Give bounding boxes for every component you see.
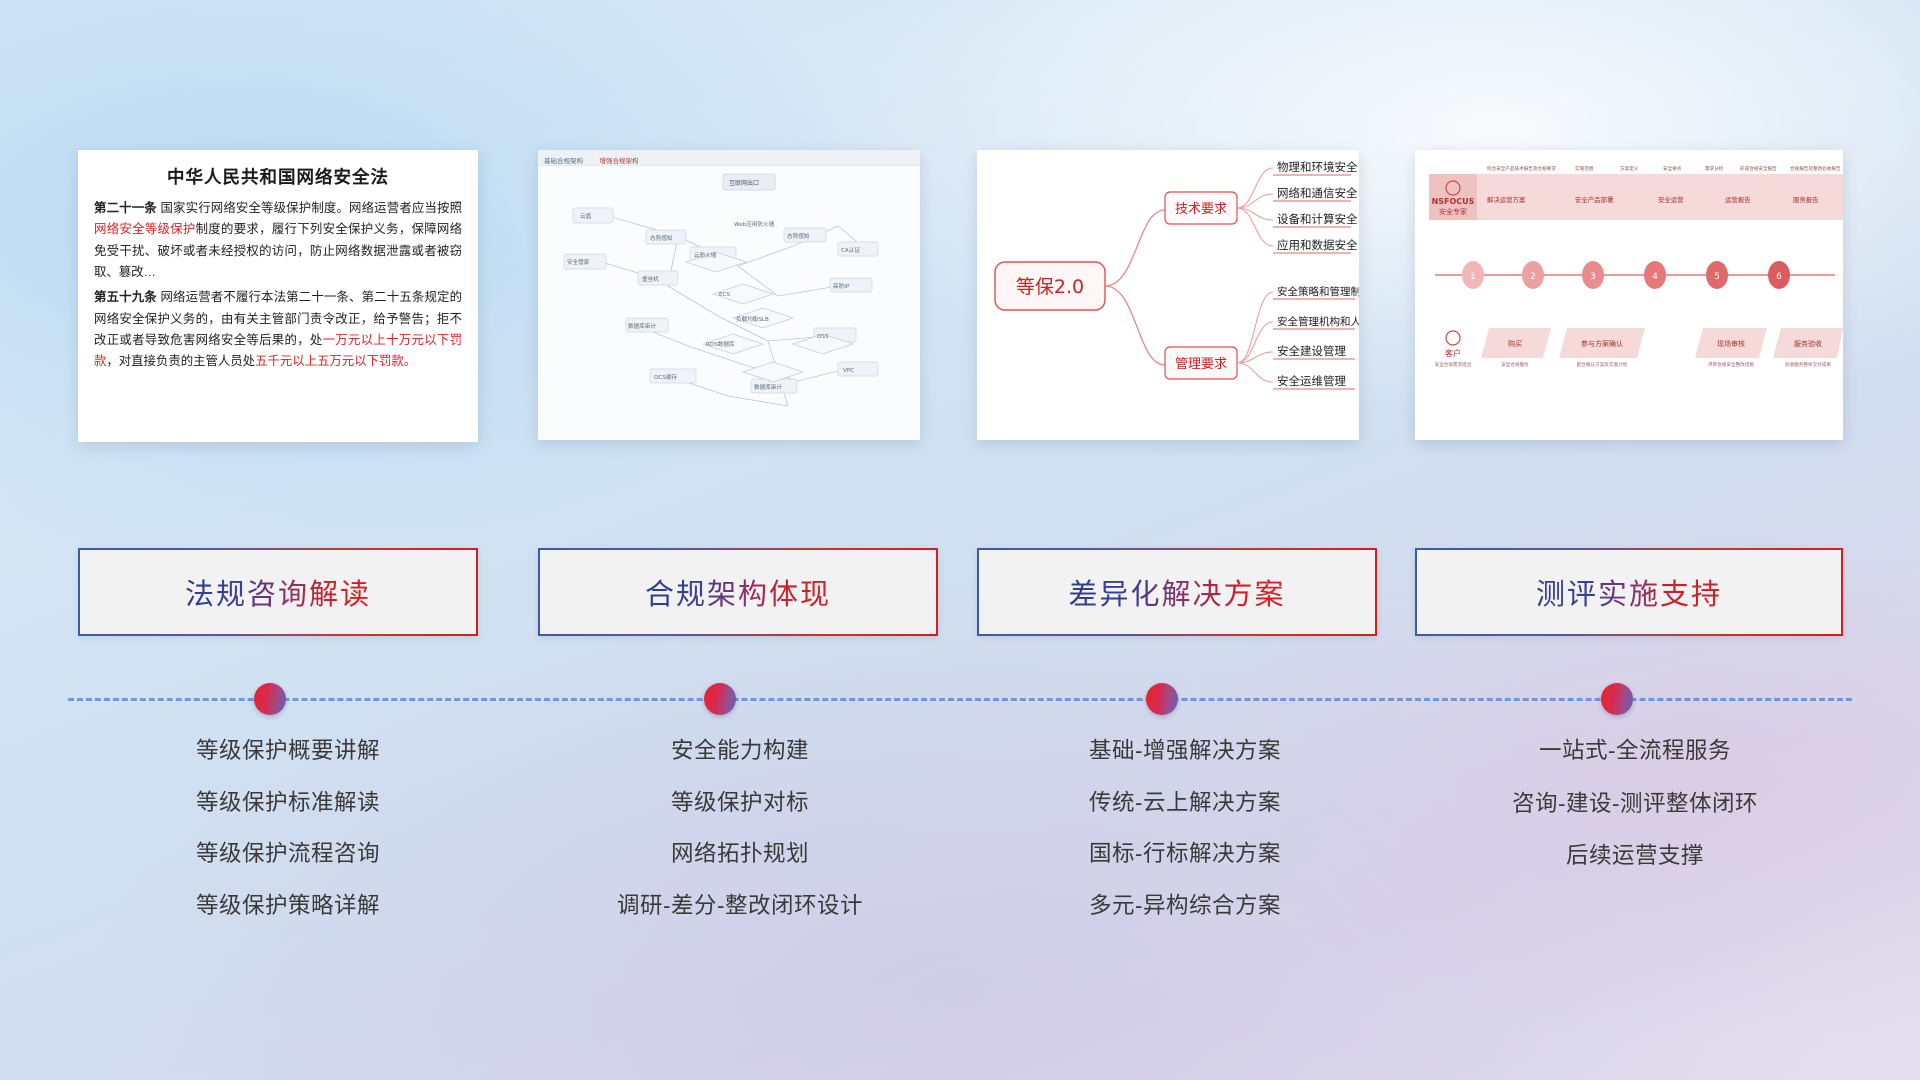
svg-text:客户: 客户 [1445, 348, 1461, 358]
article-21-highlight: 网络安全等级保护 [94, 222, 196, 236]
svg-text:安全合规服务: 安全合规服务 [1501, 361, 1529, 368]
svg-text:2: 2 [1530, 272, 1536, 282]
svg-text:参与方案确认: 参与方案确认 [1581, 339, 1623, 348]
svg-text:网络和通信安全: 网络和通信安全 [1277, 186, 1358, 200]
svg-text:安全运营: 安全运营 [1658, 195, 1684, 204]
label-box-solution[interactable]: 差异化解决方案 [977, 548, 1377, 636]
svg-text:综合安全产品技术报告及合规要求: 综合安全产品技术报告及合规要求 [1487, 165, 1556, 172]
svg-text:安全建设管理: 安全建设管理 [1277, 344, 1346, 358]
svg-text:技术要求: 技术要求 [1175, 202, 1227, 217]
timeline-dot-3[interactable] [1146, 683, 1178, 715]
nsfocus-diagram: NSFOCUS 安全专家 综合安全产品技术报告及合规要求 实施范围 方案定义 安… [1415, 150, 1843, 440]
svg-text:数据库审计: 数据库审计 [628, 322, 656, 330]
svg-text:服务报告: 服务报告 [1793, 195, 1819, 204]
law-article-21: 第二十一条 国家实行网络安全等级保护制度。网络运营者应当按照网络安全等级保护制度… [94, 198, 462, 283]
list-item: 安全能力构建 [530, 740, 950, 763]
mindmap-diagram: 等保2.0 技术要求 管理要求 [977, 150, 1359, 440]
svg-text:评审合规安全整改措施: 评审合规安全整改措施 [1708, 361, 1754, 368]
list-item: 等级保护概要讲解 [78, 740, 498, 763]
timeline-dot-2[interactable] [704, 683, 736, 715]
timeline-dot-4[interactable] [1601, 683, 1633, 715]
list-item: 网络拓扑规划 [530, 843, 950, 866]
timeline-dot-1[interactable] [254, 683, 286, 715]
svg-text:等保2.0: 等保2.0 [1016, 276, 1084, 298]
list-solution: 基础-增强解决方案 传统-云上解决方案 国标-行标解决方案 多元-异构综合方案 [975, 740, 1395, 946]
svg-text:安全合规需求提出: 安全合规需求提出 [1435, 361, 1472, 368]
svg-text:服务验收: 服务验收 [1794, 339, 1822, 348]
svg-text:态势感知: 态势感知 [787, 232, 810, 240]
label-box-assessment[interactable]: 测评实施支持 [1415, 548, 1843, 636]
svg-text:安全要点: 安全要点 [1663, 165, 1682, 172]
label-text-solution: 差异化解决方案 [1068, 571, 1285, 613]
svg-text:安全产品部署: 安全产品部署 [1575, 195, 1614, 204]
list-item: 多元-异构综合方案 [975, 895, 1395, 918]
list-item: 咨询-建设-测评整体闭环 [1415, 793, 1855, 816]
svg-text:实施范围: 实施范围 [1575, 165, 1594, 172]
list-item: 国标-行标解决方案 [975, 843, 1395, 866]
svg-text:OSS: OSS [817, 334, 829, 340]
svg-text:应用和数据安全: 应用和数据安全 [1277, 238, 1358, 252]
law-title: 中华人民共和国网络安全法 [94, 164, 462, 189]
svg-text:设备和计算安全: 设备和计算安全 [1277, 212, 1358, 226]
section-lists: 等级保护概要讲解 等级保护标准解读 等级保护流程咨询 等级保护策略详解 安全能力… [0, 740, 1920, 960]
svg-text:RDS数据库: RDS数据库 [706, 340, 735, 348]
label-text-assessment: 测评实施支持 [1536, 571, 1722, 613]
svg-text:堡垒机: 堡垒机 [642, 275, 659, 283]
article-59-label: 第五十九条 [94, 290, 157, 304]
svg-text:ECS: ECS [719, 292, 730, 298]
svg-text:云盾: 云盾 [580, 213, 592, 220]
svg-text:验收服务整体交付成果: 验收服务整体交付成果 [1785, 361, 1831, 368]
svg-text:管理要求: 管理要求 [1175, 357, 1227, 372]
svg-text:安全管家: 安全管家 [567, 258, 590, 266]
svg-text:方案定义: 方案定义 [1620, 165, 1639, 172]
card-law[interactable]: 中华人民共和国网络安全法 第二十一条 国家实行网络安全等级保护制度。网络运营者应… [78, 150, 478, 442]
svg-text:安全专家: 安全专家 [1439, 207, 1467, 216]
svg-text:1: 1 [1470, 272, 1476, 282]
svg-text:现场审核: 现场审核 [1717, 339, 1745, 348]
svg-text:负载均衡SLB: 负载均衡SLB [736, 315, 769, 323]
list-assessment: 一站式-全流程服务 咨询-建设-测评整体闭环 后续运营支撑 [1415, 740, 1855, 898]
list-item: 调研-差分-整改闭环设计 [530, 895, 950, 918]
article-59-highlight-2: 五千元以上五万元以下罚款。 [255, 354, 416, 368]
list-item: 传统-云上解决方案 [975, 792, 1395, 815]
svg-text:安全策略和管理制度: 安全策略和管理制度 [1277, 285, 1359, 298]
list-item: 一站式-全流程服务 [1415, 740, 1855, 763]
label-box-architecture[interactable]: 合规架构体现 [538, 548, 938, 636]
svg-text:VPC: VPC [843, 368, 854, 374]
label-box-regulation[interactable]: 法规咨询解读 [78, 548, 478, 636]
mindmap-svg: 等保2.0 技术要求 管理要求 [977, 150, 1359, 440]
architecture-header-right: 增强合规架构 [599, 158, 638, 165]
svg-text:配合确认方案及实施计划: 配合确认方案及实施计划 [1577, 361, 1628, 368]
article-21-pre: 国家实行网络安全等级保护制度。网络运营者应当按照 [157, 201, 462, 215]
list-architecture: 安全能力构建 等级保护对标 网络拓扑规划 调研-差分-整改闭环设计 [530, 740, 950, 946]
svg-text:高防IP: 高防IP [833, 282, 850, 290]
svg-text:合规报告及整改验收报告: 合规报告及整改验收报告 [1790, 165, 1841, 172]
svg-text:4: 4 [1652, 272, 1658, 282]
timeline [0, 660, 1920, 740]
card-mindmap[interactable]: 等保2.0 技术要求 管理要求 [977, 150, 1359, 440]
svg-text:6: 6 [1776, 272, 1782, 282]
svg-text:5: 5 [1714, 272, 1720, 282]
architecture-header: 基础合规架构 增强合规架构 [538, 150, 920, 166]
svg-text:购买: 购买 [1508, 339, 1522, 348]
svg-text:安全管理机构和人员: 安全管理机构和人员 [1277, 315, 1359, 328]
section-labels: 法规咨询解读 合规架构体现 差异化解决方案 测评实施支持 [0, 548, 1920, 636]
svg-text:3: 3 [1590, 272, 1596, 282]
svg-text:态势感知: 态势感知 [650, 234, 673, 242]
svg-text:需求分析: 需求分析 [1705, 165, 1724, 172]
list-item: 等级保护策略详解 [78, 895, 498, 918]
list-item: 后续运营支撑 [1415, 845, 1855, 868]
timeline-dashed-line [68, 698, 1852, 701]
svg-text:数据库审计: 数据库审计 [754, 383, 782, 391]
cards-row: 中华人民共和国网络安全法 第二十一条 国家实行网络安全等级保护制度。网络运营者应… [0, 150, 1920, 450]
list-regulation: 等级保护概要讲解 等级保护标准解读 等级保护流程咨询 等级保护策略详解 [78, 740, 498, 946]
svg-text:物理和环境安全: 物理和环境安全 [1277, 160, 1358, 174]
list-item: 基础-增强解决方案 [975, 740, 1395, 763]
architecture-diagram: 基础合规架构 增强合规架构 [538, 150, 920, 440]
article-59-mid: ，对直接负责的主管人员处 [106, 354, 255, 368]
svg-text:OCS缓存: OCS缓存 [654, 373, 677, 381]
label-text-architecture: 合规架构体现 [645, 571, 831, 613]
law-content: 中华人民共和国网络安全法 第二十一条 国家实行网络安全等级保护制度。网络运营者应… [78, 150, 478, 383]
svg-text:NSFOCUS: NSFOCUS [1432, 197, 1475, 206]
svg-text:Web应用防火墙: Web应用防火墙 [734, 220, 775, 228]
architecture-svg: 云盾 安全管家 态势感知 堡垒机 数据库审计 OCS缓存 云防火墙 态势感知 C… [538, 166, 920, 440]
svg-text:互联网出口: 互联网出口 [729, 179, 759, 187]
law-article-59: 第五十九条 网络运营者不履行本法第二十一条、第二十五条规定的网络安全保护义务的，… [94, 287, 462, 372]
svg-text:运营报告: 运营报告 [1725, 195, 1751, 204]
list-item: 等级保护标准解读 [78, 792, 498, 815]
nsfocus-svg: NSFOCUS 安全专家 综合安全产品技术报告及合规要求 实施范围 方案定义 安… [1415, 150, 1843, 440]
svg-text:安全运维管理: 安全运维管理 [1277, 374, 1346, 388]
article-21-label: 第二十一条 [94, 201, 157, 215]
label-text-regulation: 法规咨询解读 [185, 571, 371, 613]
svg-text:解决运营方案: 解决运营方案 [1487, 195, 1526, 204]
svg-text:形成合规安全报告: 形成合规安全报告 [1740, 165, 1777, 172]
svg-text:云防火墙: 云防火墙 [694, 251, 717, 259]
architecture-header-left: 基础合规架构 [544, 158, 583, 165]
list-item: 等级保护对标 [530, 792, 950, 815]
card-nsfocus[interactable]: NSFOCUS 安全专家 综合安全产品技术报告及合规要求 实施范围 方案定义 安… [1415, 150, 1843, 440]
card-architecture[interactable]: 基础合规架构 增强合规架构 [538, 150, 920, 440]
list-item: 等级保护流程咨询 [78, 843, 498, 866]
svg-text:CA认证: CA认证 [841, 246, 860, 254]
